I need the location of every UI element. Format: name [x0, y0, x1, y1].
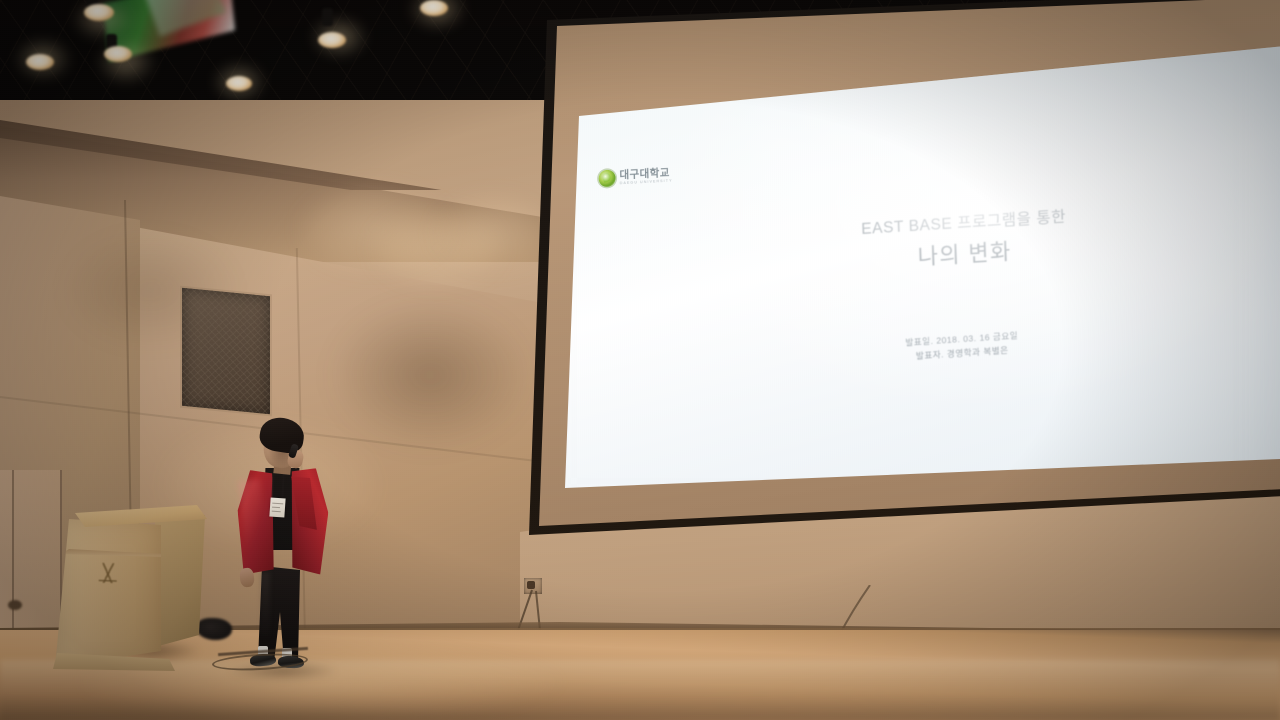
presenter-hand-left	[239, 567, 255, 587]
door-handle-icon[interactable]	[8, 600, 22, 610]
ceiling-spotlight-3	[26, 54, 54, 70]
slide-title: EAST BASE 프로그램을 통한 나의 변화	[754, 198, 1175, 282]
presenter-name-tag	[269, 497, 285, 517]
slide-subtitle: 발표일. 2018. 03. 16 금요일 발표자. 경영학과 복별은	[762, 320, 1162, 372]
lectern-side-panel	[155, 515, 205, 655]
lectern-front-panel	[55, 519, 161, 667]
ceiling-spotlight-2	[104, 46, 132, 62]
microphone-stand-base[interactable]	[212, 650, 312, 672]
ceiling-spotlight-6	[420, 0, 448, 16]
wall-air-vent-mesh	[182, 288, 270, 414]
ceiling-spotlight-4-fixture	[322, 8, 333, 26]
lectern-trim	[61, 549, 165, 557]
student-presenter[interactable]	[230, 420, 340, 675]
presenter-pants-highlight	[260, 572, 270, 642]
ceiling-spotlight-4	[318, 32, 346, 48]
wall-air-vent	[182, 288, 270, 414]
ceiling-spotlight-1	[84, 4, 114, 21]
university-logo-text: 대구대학교 DAEGU UNIVERSITY	[619, 167, 672, 185]
university-logo: 대구대학교 DAEGU UNIVERSITY	[598, 167, 672, 188]
university-name-english: DAEGU UNIVERSITY	[620, 179, 673, 185]
university-crest-icon	[99, 563, 118, 584]
wooden-lectern[interactable]	[55, 505, 205, 670]
daegu-university-emblem-icon	[598, 169, 615, 187]
lecture-hall-scene: 대구대학교 DAEGU UNIVERSITY EAST BASE 프로그램을 통…	[0, 0, 1280, 720]
ceiling-spotlight-5	[226, 76, 252, 91]
